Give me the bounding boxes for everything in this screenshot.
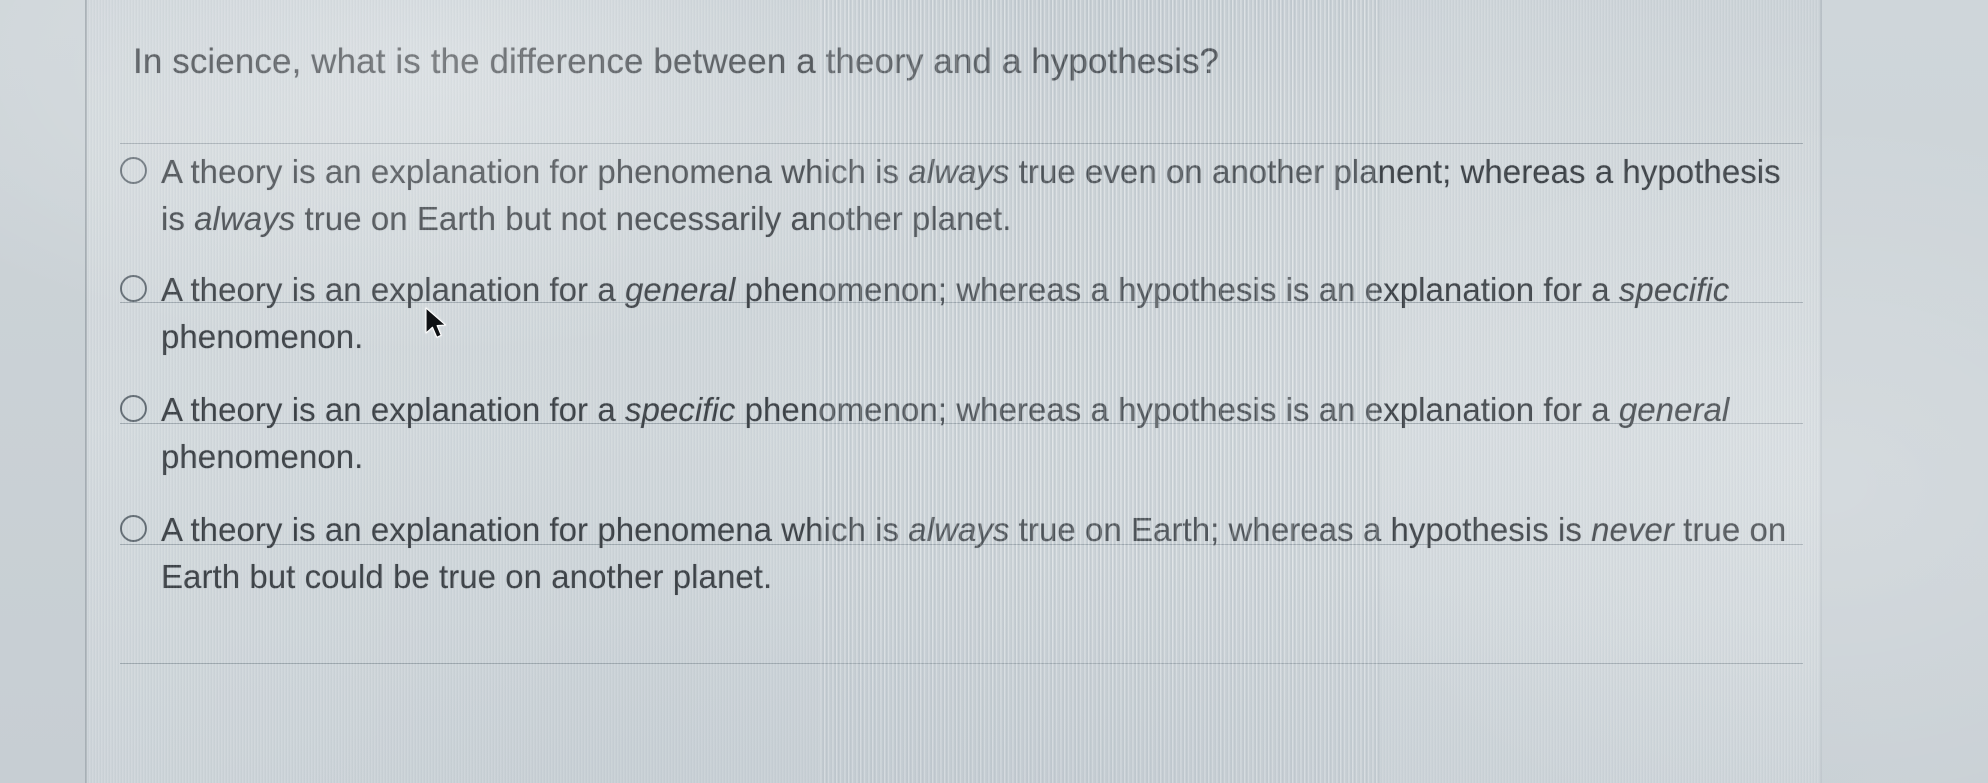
radio-button-icon-c[interactable]	[120, 395, 147, 422]
option-label-c: A theory is an explanation for a specifi…	[161, 386, 1810, 480]
question-card: In science, what is the difference betwe…	[86, 0, 1822, 783]
screen-right-edge-line	[1820, 0, 1822, 783]
option-label-d: A theory is an explanation for phenomena…	[161, 506, 1810, 600]
option-row-d[interactable]: A theory is an explanation for phenomena…	[120, 506, 1810, 600]
option-row-c[interactable]: A theory is an explanation for a specifi…	[120, 386, 1810, 480]
option-row-a[interactable]: A theory is an explanation for phenomena…	[120, 148, 1810, 242]
radio-button-icon-d[interactable]	[120, 515, 147, 542]
radio-button-icon-b[interactable]	[120, 275, 147, 302]
screen-left-edge-line	[85, 0, 87, 783]
option-label-a: A theory is an explanation for phenomena…	[161, 148, 1810, 242]
option-row-b[interactable]: A theory is an explanation for a general…	[120, 266, 1810, 360]
page-title: In science, what is the difference betwe…	[133, 40, 1733, 84]
right-gutter-panel	[1822, 0, 1988, 783]
left-gutter-panel	[0, 0, 86, 783]
radio-button-icon-a[interactable]	[120, 157, 147, 184]
option-separator	[120, 143, 1803, 144]
option-label-b: A theory is an explanation for a general…	[161, 266, 1810, 360]
option-separator	[120, 663, 1803, 664]
